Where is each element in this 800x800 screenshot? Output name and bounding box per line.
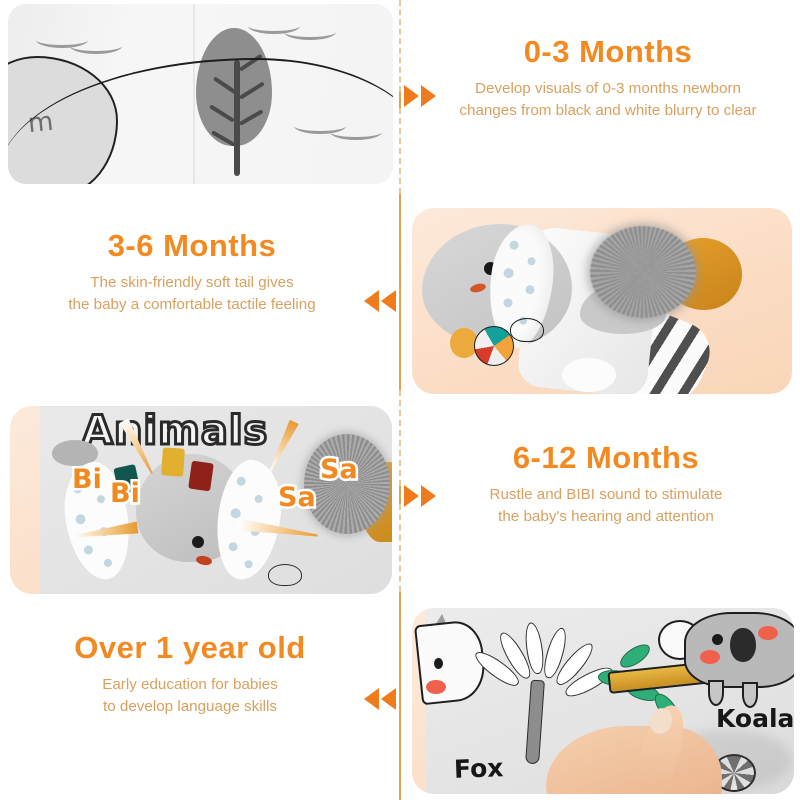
koala-cheek-icon-2 [758,626,778,640]
six-to-twelve-photo-half: Animals [0,400,400,600]
six-to-twelve-text-half: 6-12 Months Rustle and BIBI sound to sti… [400,400,800,600]
three-to-six-text-half: 3-6 Months The skin-friendly soft tail g… [0,200,400,400]
infographic-page: m [0,0,800,800]
section-newborn: m [0,0,800,200]
newborn-body-line-2: changes from black and white blurry to c… [434,100,782,122]
newborn-text-half: 0-3 Months Develop visuals of 0-3 months… [400,0,800,200]
newborn-body: Develop visuals of 0-3 months newborn ch… [434,78,782,122]
newborn-textblock: 0-3 Months Develop visuals of 0-3 months… [408,36,800,122]
section-three-to-six: 3-6 Months The skin-friendly soft tail g… [0,200,800,400]
six-to-twelve-body-line-1: Rustle and BIBI sound to stimulate [432,484,780,506]
cloud-outline-icon [510,318,544,342]
animal-label-fox: Fox [454,753,504,784]
triangle-left-icon [381,688,396,710]
triangle-right-icon [421,485,436,507]
arrow-marker-right-2 [404,485,436,507]
over-one-year-body: Early education for babies to develop la… [16,674,364,718]
three-to-six-body: The skin-friendly soft tail gives the ba… [18,272,366,316]
newborn-heading: 0-3 Months [434,36,782,69]
six-to-twelve-textblock: 6-12 Months Rustle and BIBI sound to sti… [406,442,800,528]
newborn-photo-half: m [0,0,400,200]
animals-page-title: Animals [82,408,268,454]
koala-eye-icon [712,634,723,645]
arrow-marker-left-1 [364,290,396,312]
arrow-marker-right-1 [404,85,436,107]
over-one-year-heading: Over 1 year old [16,632,364,665]
ribbon-tag-yellow [161,447,185,476]
koala-cheek-icon [700,650,720,664]
fox-cheek-icon [426,680,446,694]
fuzzy-soft-tail [590,226,696,318]
triangle-right-icon [421,85,436,107]
koala-nose-icon [730,628,756,662]
animal-naming-page-with-hand: Fox Koala [412,608,794,794]
beach-ball-patch [474,326,514,366]
triangle-right-icon [404,85,419,107]
three-to-six-body-line-2: the baby a comfortable tactile feeling [18,294,366,316]
section-six-to-twelve: Animals [0,400,800,600]
triangle-left-icon [364,290,379,312]
section-over-one-year: Over 1 year old Early education for babi… [0,600,800,800]
over-one-year-textblock: Over 1 year old Early education for babi… [0,632,390,718]
over-one-year-body-line-2: to develop language skills [16,696,364,718]
over-one-year-photo-half: Fox Koala [400,600,800,800]
black-and-white-cloth-book-page: m [8,4,393,184]
plush-foot [562,358,616,392]
triangle-right-icon [404,485,419,507]
animals-page-with-sound-callouts: Animals [10,406,392,594]
animal-label-koala: Koala [716,704,794,733]
three-to-six-body-line-1: The skin-friendly soft tail gives [18,272,366,294]
three-to-six-heading: 3-6 Months [18,230,366,263]
cloud-outline-icon [268,564,302,586]
over-one-year-text-half: Over 1 year old Early education for babi… [0,600,400,800]
ribbon-tag-red [188,461,214,492]
plush-elephant-with-soft-tail [412,208,792,394]
over-one-year-body-line-1: Early education for babies [16,674,364,696]
elephant-eye-icon [192,536,204,548]
three-to-six-photo-half [400,200,800,400]
six-to-twelve-heading: 6-12 Months [432,442,780,475]
six-to-twelve-body-line-2: the baby's hearing and attention [432,506,780,528]
fox-eye-icon [434,658,443,669]
newborn-body-line-1: Develop visuals of 0-3 months newborn [434,78,782,100]
arrow-marker-left-2 [364,688,396,710]
three-to-six-textblock: 3-6 Months The skin-friendly soft tail g… [0,230,392,316]
six-to-twelve-body: Rustle and BIBI sound to stimulate the b… [432,484,780,528]
triangle-left-icon [381,290,396,312]
triangle-left-icon [364,688,379,710]
